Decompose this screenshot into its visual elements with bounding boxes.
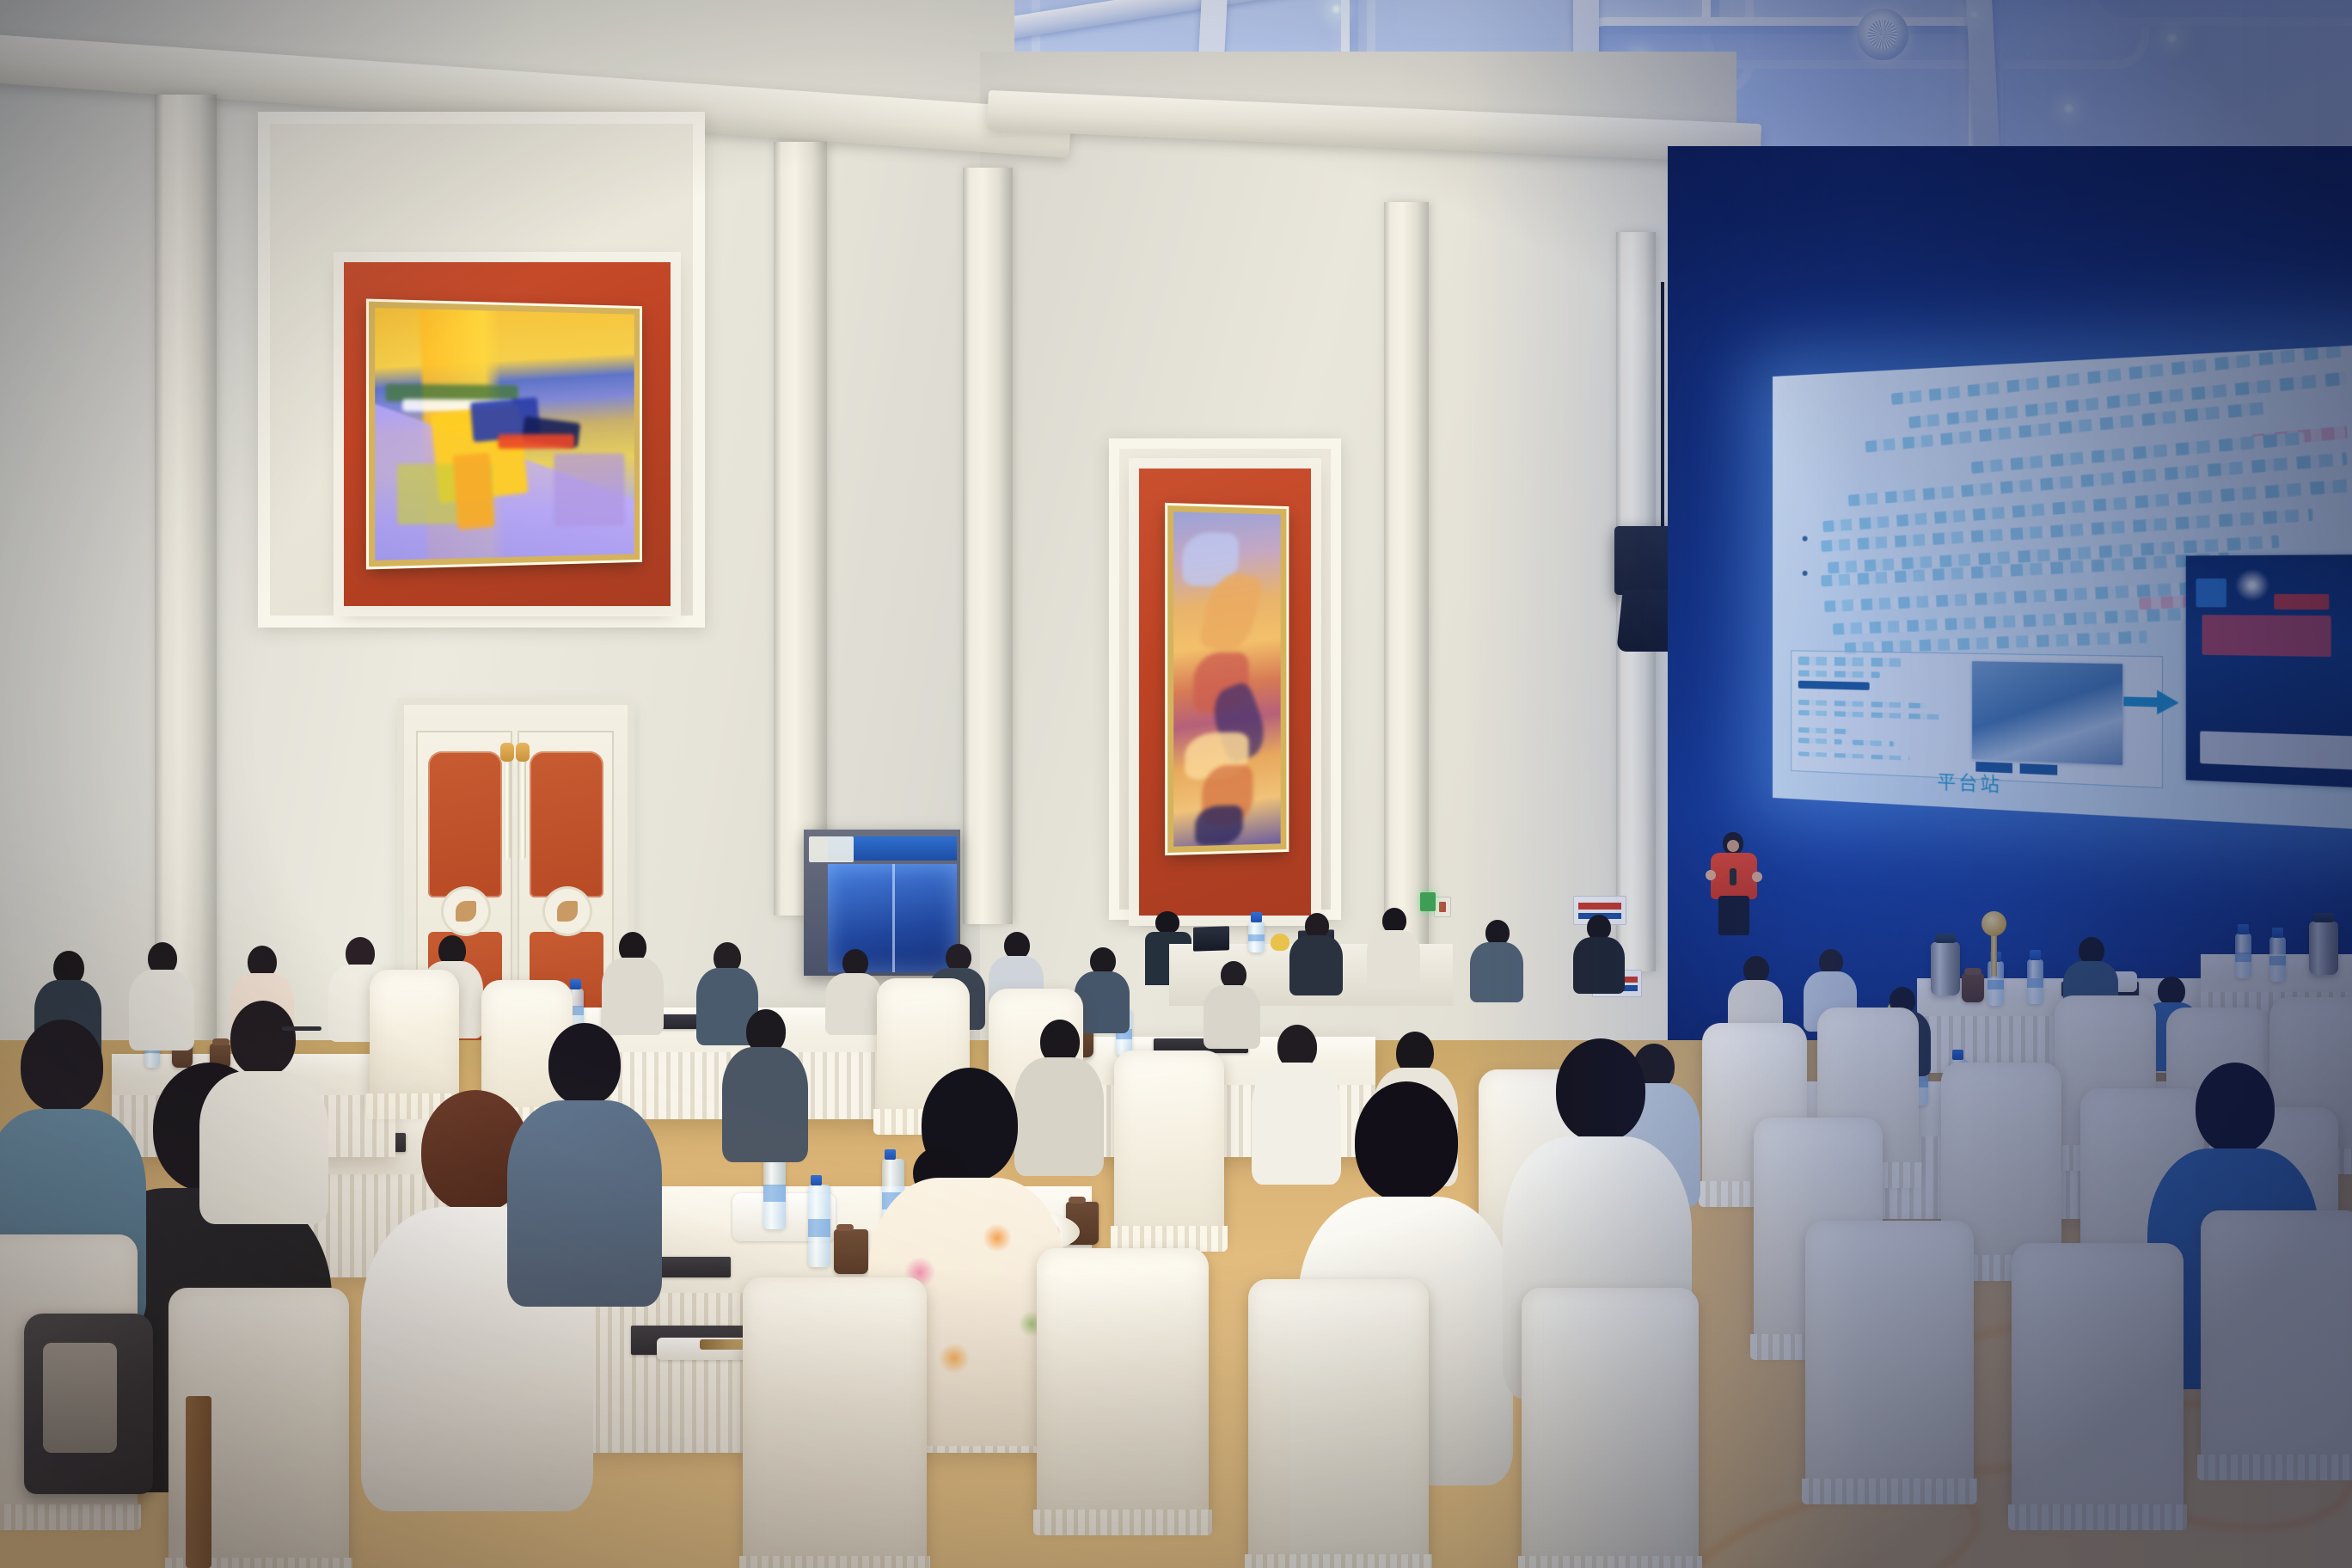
banquet-chair[interactable] [1037,1248,1209,1523]
teacup [1962,973,1984,1002]
water-bottle [2027,959,2043,1004]
wall-pilaster [155,95,217,1040]
water-bottle [2269,937,2286,982]
wall-pilaster [1384,202,1429,959]
slide-screenshot-card [1791,650,2163,788]
audience-member [825,949,882,1035]
audience-member [722,1009,808,1162]
wall-pilaster [774,142,827,916]
projected-slide: 平台站 [1773,342,2352,832]
wall-pilaster [963,168,1013,924]
slide-caption: 平台站 [1937,767,2002,797]
balloon-decoration [1271,934,1289,951]
door-medallion [545,889,590,934]
presenter-skirt [1718,896,1749,935]
banquet-chair[interactable] [1805,1221,1974,1492]
audience-member [602,932,664,1035]
abstract-vertical-painting [1167,505,1286,853]
banquet-chair[interactable] [2201,1210,2352,1468]
slide-bullet-marker [1803,571,1808,576]
slide-bullet-marker [1803,536,1808,541]
door-handle[interactable] [504,756,511,860]
exit-sign-icon [1420,892,1436,911]
audience-member [199,1001,328,1224]
audience-member [1470,920,1523,1002]
refrigerator-label [809,836,854,862]
presenter-hand [1752,872,1762,882]
banquet-chair[interactable] [1522,1288,1699,1568]
presenter-hand [1706,870,1716,880]
thermos-pitcher [2309,922,2338,975]
audience-member [1367,908,1420,989]
table-number-stand [1991,930,1997,977]
ceiling-rosette [1857,9,1908,60]
hair [1355,1081,1458,1202]
door-panel-upper [530,751,603,897]
eyeglasses [282,1026,322,1031]
handheld-microphone [1730,868,1736,885]
presenter [1706,832,1762,934]
water-bottle [1248,922,1265,952]
presenter-face [1727,840,1739,852]
door-medallion [444,889,488,934]
slide-photo-thumbnail [1972,661,2122,765]
slide-mobile-screenshot [2186,554,2352,790]
backpack[interactable] [24,1314,153,1494]
right-arrow-icon [2123,688,2178,718]
banquet-chair[interactable] [1114,1050,1224,1240]
door-panel-upper [428,751,502,897]
abstract-landscape-painting [369,302,640,567]
ceiling-downlight [2166,33,2177,44]
speaker-suspension-cable [1661,282,1664,531]
audience-member [1573,915,1625,994]
banquet-chair[interactable] [743,1277,927,1568]
wall-socket [1434,897,1451,917]
door-handle[interactable] [519,756,526,860]
wooden-chair-leg [186,1396,211,1568]
audience-member [1289,913,1343,995]
banquet-chair[interactable] [2012,1243,2184,1518]
projection-screen: 平台站 [1773,342,2352,832]
banquet-chair[interactable] [370,970,459,1107]
water-bottle [2235,934,2251,978]
conference-hall-photo: 平台站 [0,0,2352,1568]
ceiling-downlight [1331,3,1342,15]
water-bottle [763,1152,786,1229]
water-bottle [808,1185,830,1267]
banquet-chair[interactable] [1248,1279,1429,1568]
ceiling-downlight [1969,9,1980,20]
laptop[interactable] [1193,926,1229,951]
audience-member [507,1023,662,1307]
thermos-pitcher [1931,942,1960,995]
teacup [834,1229,868,1274]
ceiling-downlight [2063,103,2074,114]
